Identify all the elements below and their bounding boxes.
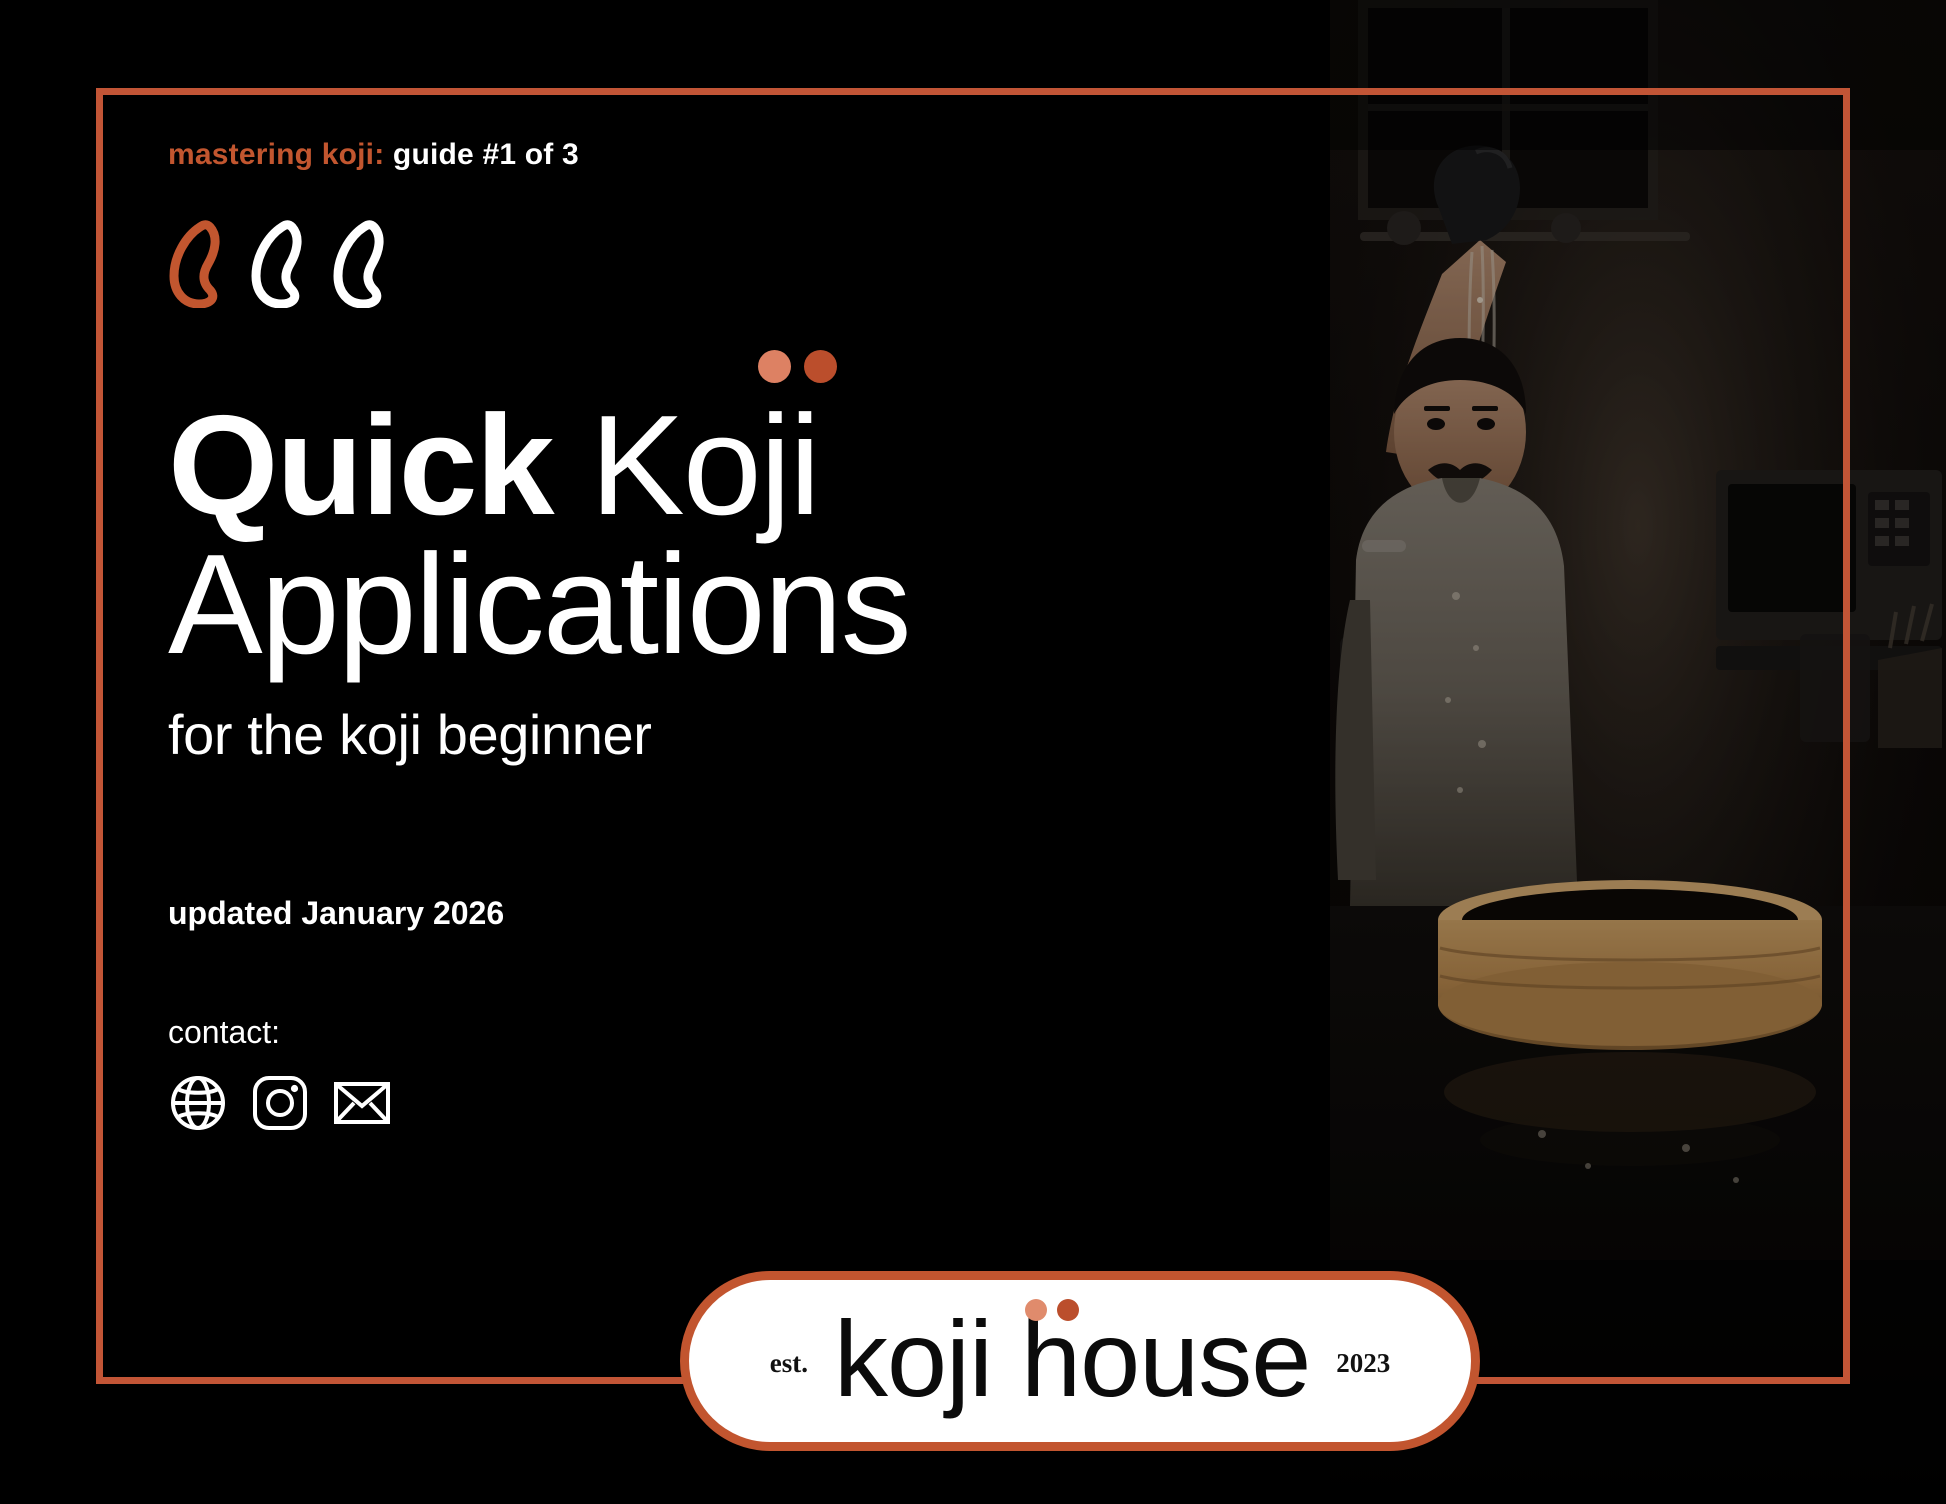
cover-content: mastering koji: guide #1 of 3 Quic — [168, 140, 1278, 1133]
page-title: Quick Koji Applications — [168, 394, 1278, 678]
logo-est-label: est. — [770, 1348, 808, 1379]
title-dot-dark — [804, 350, 837, 383]
title-word-quick: Quick — [168, 386, 553, 545]
title-line-1: Quick Koji — [168, 394, 1278, 539]
tagline: for the koji beginner — [168, 702, 1278, 767]
logo-wordmark: koji house — [834, 1305, 1310, 1413]
contact-label: contact: — [168, 1014, 1278, 1051]
rice-grain-icon-3 — [332, 220, 394, 308]
eyebrow-highlight: mastering koji: — [168, 138, 384, 171]
title-line-2: Applications — [168, 533, 1278, 678]
cover-page: mastering koji: guide #1 of 3 Quic — [0, 0, 1946, 1504]
title-word-ji-wrap: ji — [760, 394, 819, 539]
title-dot-light — [758, 350, 791, 383]
instagram-icon[interactable] — [250, 1073, 310, 1133]
logo-badge[interactable]: est. koji house 2023 — [680, 1271, 1480, 1451]
rice-grain-icon-1 — [168, 220, 230, 308]
logo-badge-inner: est. koji house 2023 — [770, 1305, 1391, 1413]
globe-icon[interactable] — [168, 1073, 228, 1133]
rice-grain-row — [168, 216, 1278, 308]
social-links — [168, 1073, 1278, 1133]
envelope-icon[interactable] — [332, 1073, 392, 1133]
title-word-ko: Ko — [590, 386, 760, 545]
logo-year: 2023 — [1336, 1348, 1390, 1379]
title-word-ji: ji — [760, 386, 819, 545]
rice-grain-icon-2 — [250, 220, 312, 308]
updated-date: updated January 2026 — [168, 895, 1278, 932]
eyebrow-rest: guide #1 of 3 — [384, 138, 579, 171]
eyebrow-label: mastering koji: guide #1 of 3 — [168, 140, 1278, 170]
